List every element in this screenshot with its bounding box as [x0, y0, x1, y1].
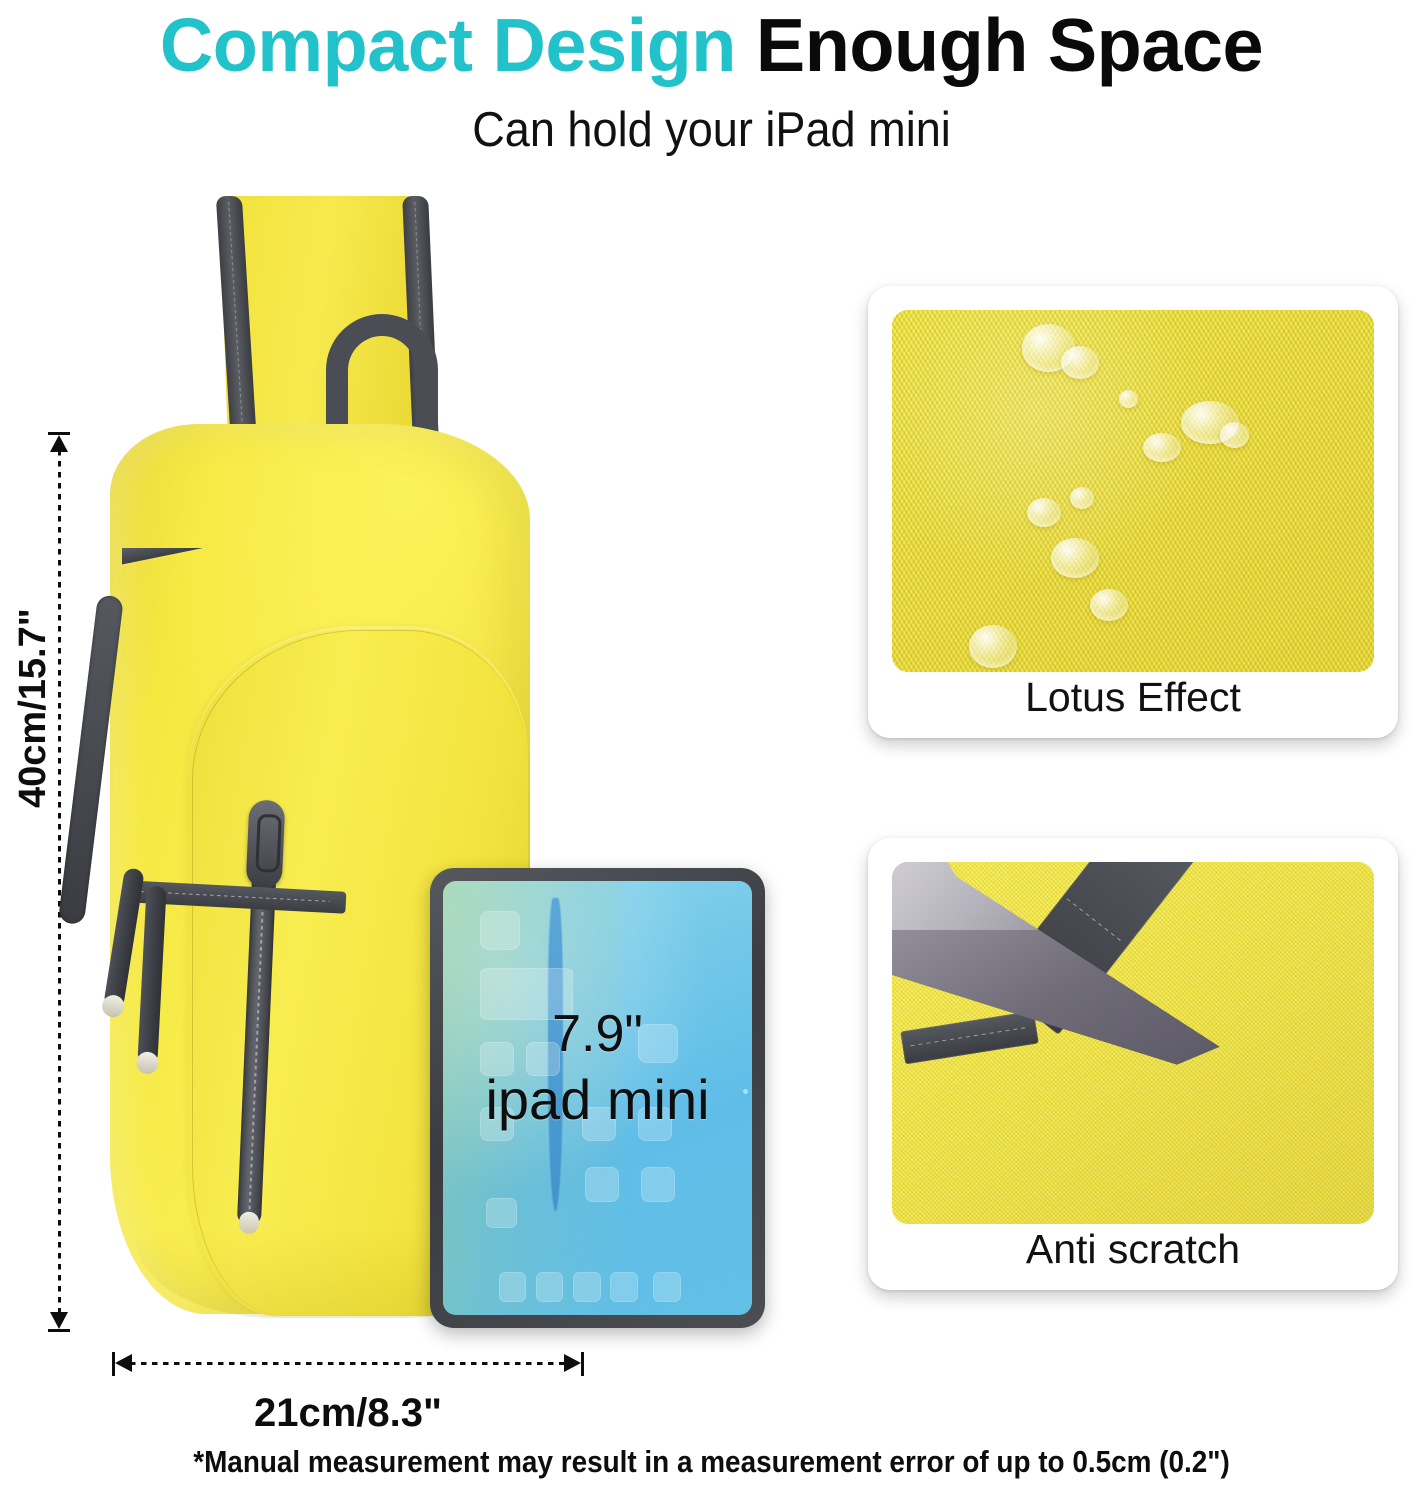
screen-dock-icon: [610, 1272, 638, 1302]
measurement-disclaimer: *Manual measurement may result in a meas…: [71, 1442, 1352, 1482]
webbing-stitch-line: [910, 1027, 1027, 1047]
water-droplet: [1061, 346, 1100, 379]
screen-dock-icon: [653, 1272, 681, 1302]
arrowhead-right-icon: [564, 1354, 581, 1372]
webbing-stitch-line: [228, 202, 245, 458]
width-dimension-label: 21cm/8.3": [112, 1388, 584, 1438]
page-title-secondary: Enough Space: [756, 3, 1263, 87]
water-droplet: [1143, 433, 1182, 462]
ipad-mini-mockup: 7.9" ipad mini: [430, 868, 765, 1328]
dimension-cap-bottom: [48, 1329, 70, 1332]
tablet-size-label: 7.9" ipad mini: [443, 1003, 752, 1135]
feature-card-anti-scratch: Anti scratch: [868, 838, 1398, 1290]
screen-app-icon: [585, 1167, 619, 1202]
screen-dock-icon: [536, 1272, 564, 1302]
water-droplet: [1027, 498, 1061, 527]
arrowhead-down-icon: [50, 1312, 68, 1329]
dimension-dotted-shaft: [58, 450, 61, 1314]
screen-dock-icon: [499, 1272, 527, 1302]
feature-card-lotus-effect: Lotus Effect: [868, 286, 1398, 738]
water-droplet: [1051, 538, 1099, 578]
height-dimension-label: 40cm/15.7": [10, 618, 56, 808]
water-droplet: [1119, 390, 1138, 408]
water-droplet: [1220, 422, 1249, 447]
webbing-stitch-line: [140, 891, 330, 902]
screen-dock-icon: [573, 1272, 601, 1302]
dimension-cap-right: [581, 1352, 584, 1376]
dimension-dotted-shaft: [130, 1362, 566, 1365]
screen-app-icon: [486, 1198, 517, 1228]
width-dimension-line: [112, 1352, 584, 1376]
yellow-fabric-texture: [892, 310, 1374, 672]
arrowhead-up-icon: [50, 435, 68, 452]
page-title-primary: Compact Design: [160, 3, 736, 87]
tablet-size-line: 7.9": [443, 1003, 752, 1065]
zipper-slider-icon: [246, 799, 286, 888]
tablet-name-line: ipad mini: [443, 1065, 752, 1135]
lotus-effect-photo: [892, 310, 1374, 672]
top-flap-zipper-area: [122, 548, 532, 622]
page-subtitle: Can hold your iPad mini: [57, 100, 1366, 160]
page-title: Compact Design Enough Space: [11, 2, 1413, 88]
screen-app-icon: [480, 911, 520, 950]
arrowhead-left-icon: [115, 1354, 132, 1372]
webbing-stitch-line: [1067, 898, 1124, 943]
anti-scratch-caption: Anti scratch: [868, 1222, 1398, 1276]
lotus-effect-caption: Lotus Effect: [868, 670, 1398, 724]
top-zipper-tape: [122, 548, 532, 568]
tablet-screen: 7.9" ipad mini: [443, 881, 752, 1315]
anti-scratch-photo: [892, 862, 1374, 1224]
screen-app-icon: [641, 1167, 675, 1202]
